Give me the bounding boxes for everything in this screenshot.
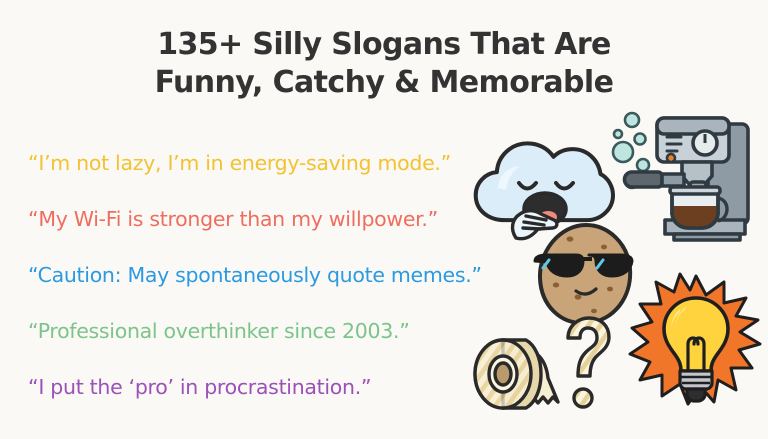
slogan-procrastination: “I put the ‘pro’ in procrastination.” <box>28 359 478 415</box>
slogans-graphic: 135+ Silly Slogans That Are Funny, Catch… <box>0 0 768 439</box>
slogan-quote-memes: “Caution: May spontaneously quote memes.… <box>28 247 478 303</box>
title-line-1: 135+ Silly Slogans That Are <box>0 26 768 64</box>
slogan-wifi-willpower: “My Wi-Fi is stronger than my willpower.… <box>28 191 478 247</box>
slogan-overthinker: “Professional overthinker since 2003.” <box>28 303 478 359</box>
illustration-cluster <box>462 108 768 428</box>
page-title: 135+ Silly Slogans That Are Funny, Catch… <box>0 26 768 102</box>
light-bulb-icon <box>632 276 760 404</box>
slogan-energy-saving: “I’m not lazy, I’m in energy-saving mode… <box>28 135 478 191</box>
potato-sunglasses-icon <box>532 221 640 327</box>
slogan-list: “I’m not lazy, I’m in energy-saving mode… <box>28 135 478 415</box>
title-line-2: Funny, Catchy & Memorable <box>0 64 768 102</box>
tape-roll-question-icon <box>470 316 610 414</box>
